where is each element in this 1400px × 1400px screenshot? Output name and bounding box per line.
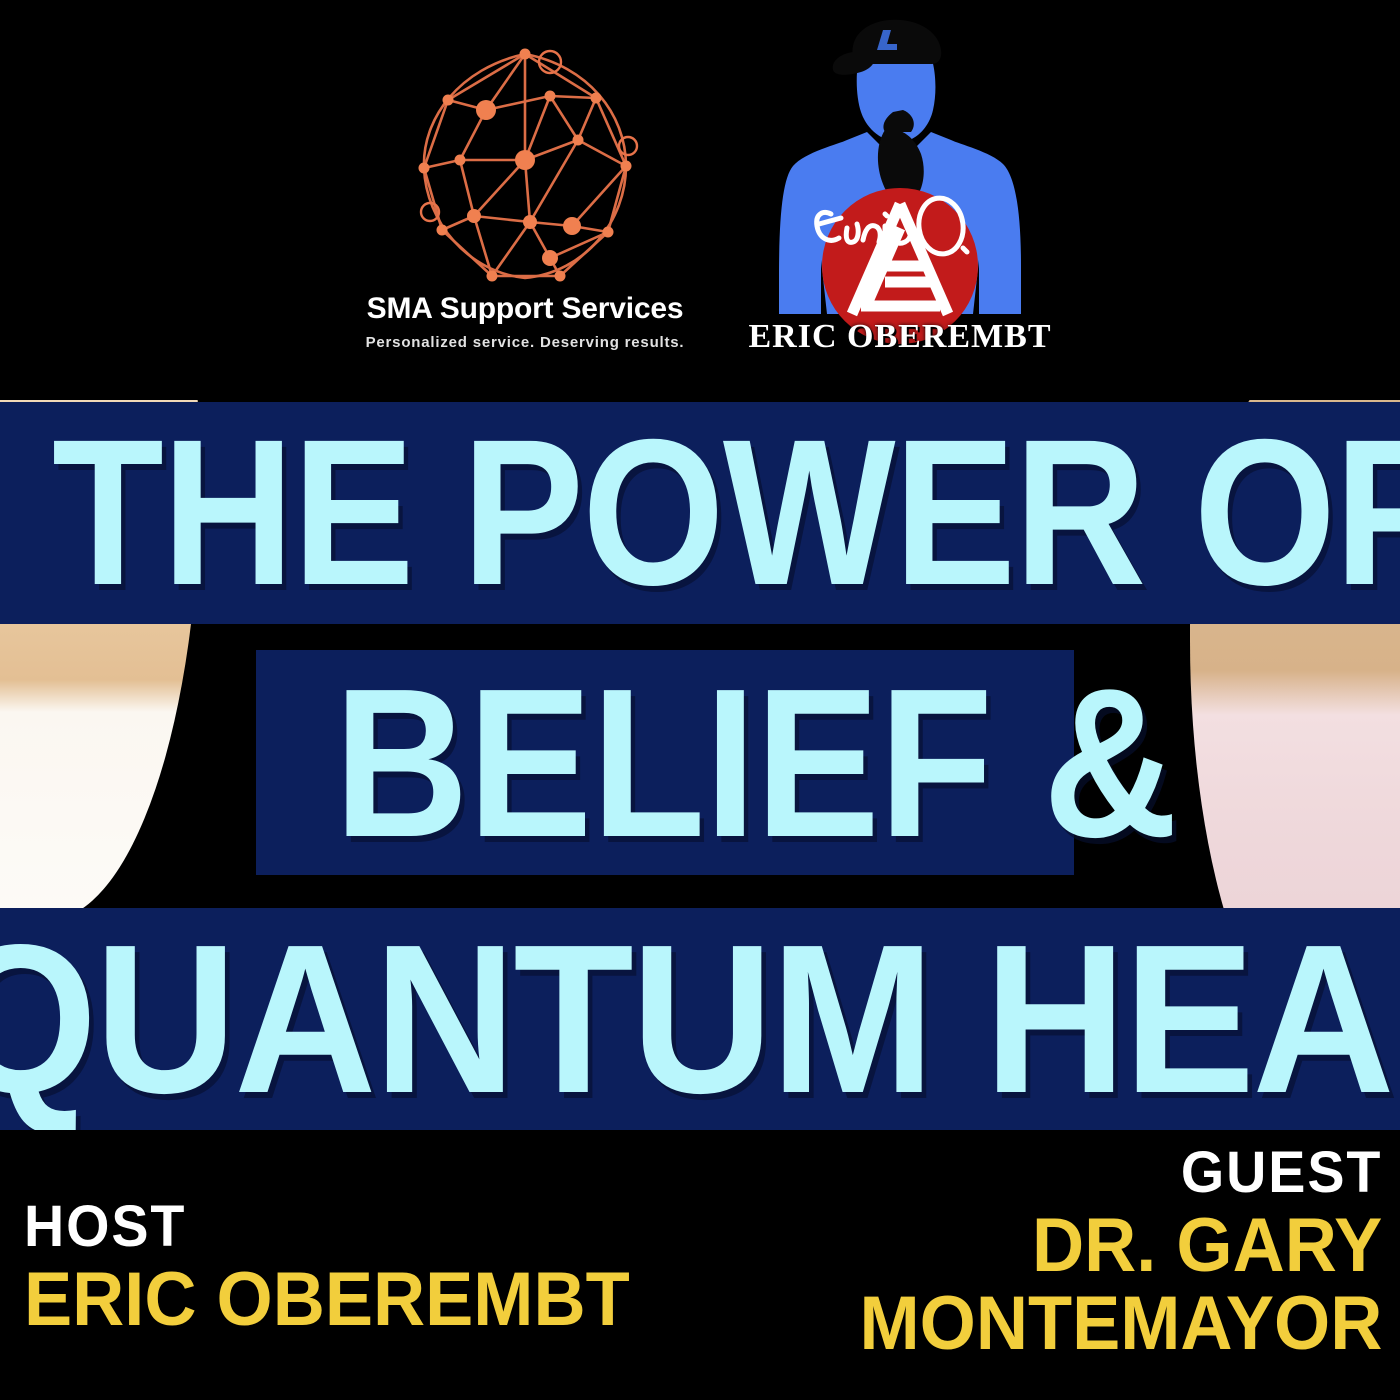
silhouette-figure-icon — [735, 14, 1065, 364]
logo-strip: SMA Support Services Personalized servic… — [0, 0, 1400, 400]
guest-name-line2: MONTEMAYOR — [859, 1286, 1382, 1362]
host-name: ERIC OBEREMBT — [24, 1262, 630, 1338]
podcast-cover-art: SMA Support Services Personalized servic… — [0, 0, 1400, 1400]
title-line2: BELIEF & — [334, 676, 1177, 850]
title-band-line2: BELIEF & — [256, 650, 1074, 875]
sma-logo-name: SMA Support Services — [355, 292, 695, 326]
title-line3: QUANTUM HEALING — [0, 932, 1400, 1106]
title-band-line3: QUANTUM HEALING — [0, 908, 1400, 1130]
host-credit: HOST ERIC OBEREMBT — [24, 1198, 662, 1338]
guest-role-label: GUEST — [854, 1144, 1382, 1202]
title-line1: THE POWER OF — [52, 428, 1400, 599]
guest-name-line1: DR. GARY — [859, 1208, 1382, 1284]
sma-support-services-logo: SMA Support Services Personalized servic… — [355, 40, 695, 370]
credits-bar: HOST ERIC OBEREMBT GUEST DR. GARY MONTEM… — [0, 1130, 1400, 1400]
host-role-label: HOST — [24, 1198, 636, 1256]
guest-credit: GUEST DR. GARY MONTEMAYOR — [832, 1144, 1382, 1362]
sma-logo-tagline: Personalized service. Deserving results. — [355, 334, 695, 351]
eric-oberembt-logo: ERIC OBEREMBT — [735, 14, 1065, 364]
title-band-line1: THE POWER OF — [0, 402, 1400, 624]
eric-oberembt-logo-name: ERIC OBEREMBT — [735, 318, 1065, 356]
network-sphere-icon — [400, 40, 650, 290]
